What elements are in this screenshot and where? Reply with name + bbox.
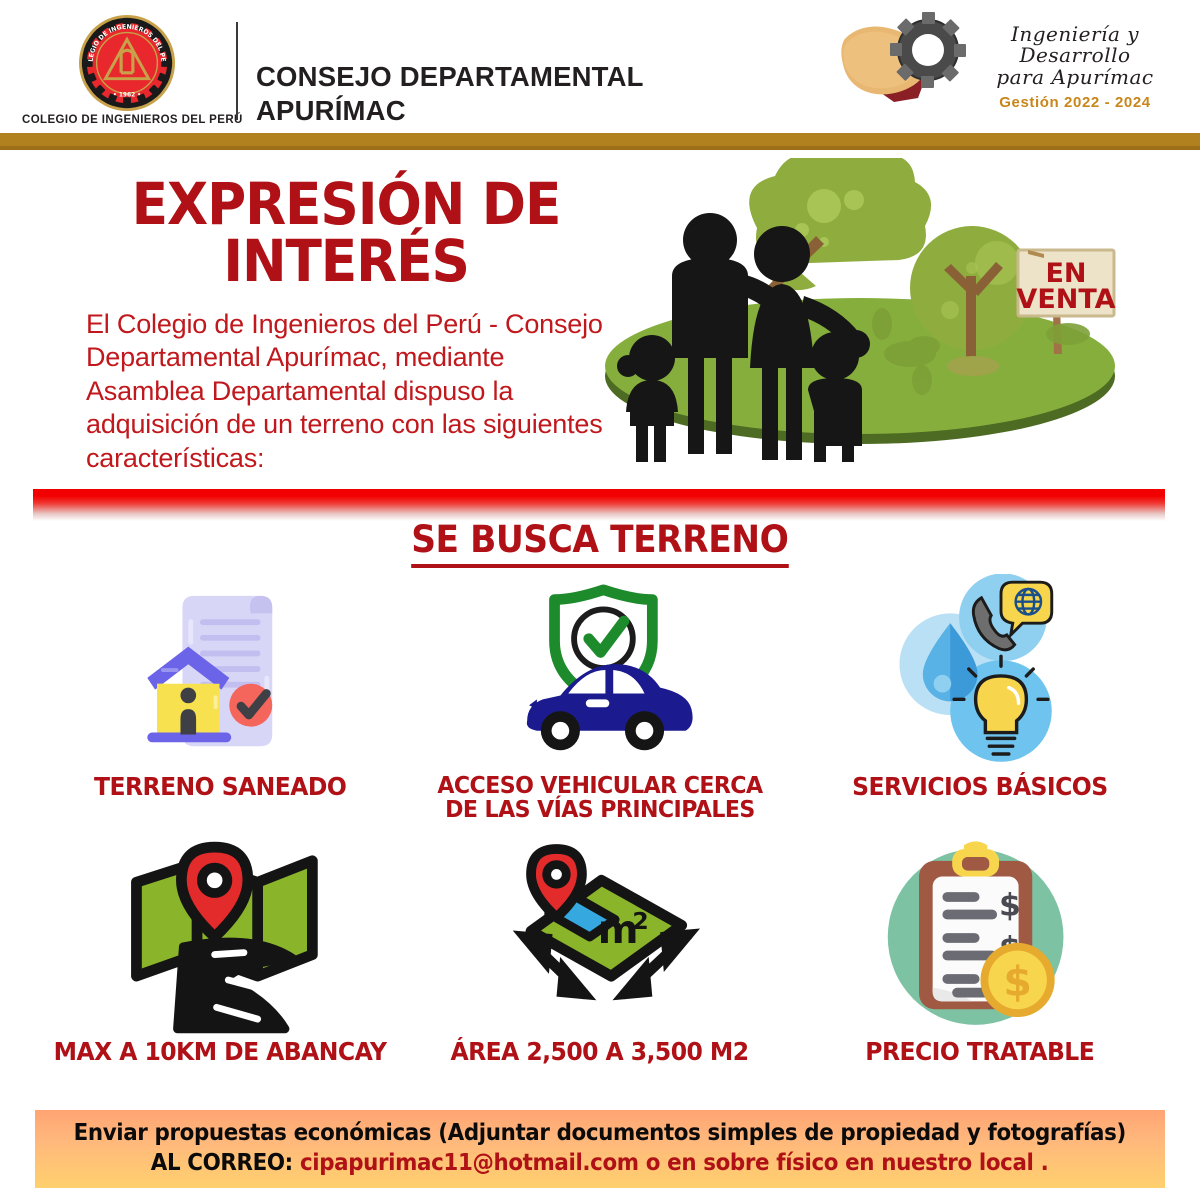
feature-label: MAX A 10KM DE ABANCAY — [54, 1039, 387, 1065]
feature-label: TERRENO SANEADO — [94, 774, 346, 800]
feature-terreno-saneado: TERRENO SANEADO — [30, 572, 410, 837]
page-title-line1: CONSEJO DEPARTAMENTAL — [256, 60, 644, 94]
slogan-line2: para Apurímac — [980, 67, 1170, 88]
feature-precio-tratable: $ $ $ PRECIO TRATABLE — [790, 837, 1170, 1102]
gold-divider-bar — [0, 133, 1200, 150]
features-grid: TERRENO SANEADO — [30, 572, 1170, 1102]
cip-logo-caption: COLEGIO DE INGENIEROS DEL PERÚ — [22, 114, 232, 126]
features-row-2: MAX A 10KM DE ABANCAY m 2 — [30, 837, 1170, 1102]
section-heading-text: SE BUSCA TERRENO — [411, 518, 788, 568]
feature-servicios-basicos: SERVICIOS BÁSICOS — [790, 572, 1170, 837]
footer-email[interactable]: cipapurimac11@hotmail.com — [300, 1150, 639, 1176]
feature-max-10km: MAX A 10KM DE ABANCAY — [30, 837, 410, 1102]
features-row-1: TERRENO SANEADO — [30, 572, 1170, 837]
feature-label: ÁREA 2,500 A 3,500 M2 — [451, 1039, 749, 1065]
page-title: CONSEJO DEPARTAMENTAL APURÍMAC — [256, 60, 644, 127]
svg-text:• 1962 •: • 1962 • — [113, 92, 141, 98]
house-document-check-icon — [118, 572, 323, 772]
footer-line2: AL CORREO: cipapurimac11@hotmail.com o e… — [151, 1149, 1049, 1179]
hero-title: EXPRESIÓN DE INTERÉS — [86, 176, 606, 290]
hero-body-text: El Colegio de Ingenieros del Perú - Cons… — [86, 308, 606, 475]
page-title-line2: APURÍMAC — [256, 94, 644, 128]
footer-correo-prefix: AL CORREO: — [151, 1150, 300, 1176]
svg-text:$: $ — [1003, 958, 1032, 1006]
map-pin-road-icon — [113, 837, 328, 1037]
feature-label: PRECIO TRATABLE — [866, 1039, 1095, 1065]
feature-acceso-vehicular: ACCESO VEHICULAR CERCA DE LAS VÍAS PRINC… — [410, 572, 790, 837]
poster-root: COLEGIO DE INGENIEROS DEL PERU • 1962 • … — [0, 0, 1200, 1200]
contact-footer: Enviar propuestas económicas (Adjuntar d… — [35, 1110, 1165, 1188]
feature-label: SERVICIOS BÁSICOS — [852, 774, 1107, 800]
apurimac-slogan: Ingeniería y Desarrollo para Apurímac Ge… — [980, 24, 1170, 111]
section-heading: SE BUSCA TERRENO — [0, 518, 1200, 568]
land-area-m2-icon: m 2 — [488, 837, 713, 1037]
slogan-line1: Ingeniería y Desarrollo — [980, 24, 1170, 66]
feature-label-line2: DE LAS VÍAS PRINCIPALES — [437, 798, 762, 822]
svg-text:2: 2 — [632, 907, 648, 935]
page-header: COLEGIO DE INGENIEROS DEL PERU • 1962 • … — [0, 0, 1200, 133]
cip-logo-block: COLEGIO DE INGENIEROS DEL PERU • 1962 • … — [22, 14, 232, 132]
red-gradient-divider — [33, 489, 1165, 521]
apurimac-map-gear-icon — [832, 10, 972, 126]
header-divider — [236, 22, 238, 120]
feature-label: ACCESO VEHICULAR CERCA DE LAS VÍAS PRINC… — [437, 774, 762, 822]
water-phone-bulb-icon — [878, 572, 1083, 772]
footer-line2-suffix: o en sobre físico en nuestro local . — [639, 1150, 1049, 1176]
clipboard-dollar-coin-icon: $ $ $ — [878, 837, 1083, 1037]
footer-line1: Enviar propuestas económicas (Adjuntar d… — [74, 1119, 1126, 1149]
car-shield-check-icon — [488, 572, 713, 772]
hero-title-line2: INTERÉS — [107, 233, 585, 290]
hero-section: EXPRESIÓN DE INTERÉS El Colegio de Ingen… — [0, 150, 1200, 490]
family-land-illustration: EN VENTA — [592, 158, 1192, 478]
gestion-label: Gestión 2022 - 2024 — [980, 94, 1170, 111]
hero-title-line1: EXPRESIÓN DE — [107, 176, 585, 233]
svg-text:$: $ — [999, 888, 1021, 924]
cip-seal-icon: COLEGIO DE INGENIEROS DEL PERU • 1962 • — [78, 14, 176, 112]
apurimac-brand-block: Ingeniería y Desarrollo para Apurímac Ge… — [832, 8, 1172, 126]
sign-line2: VENTA — [1016, 284, 1115, 315]
feature-area-m2: m 2 — [410, 837, 790, 1102]
